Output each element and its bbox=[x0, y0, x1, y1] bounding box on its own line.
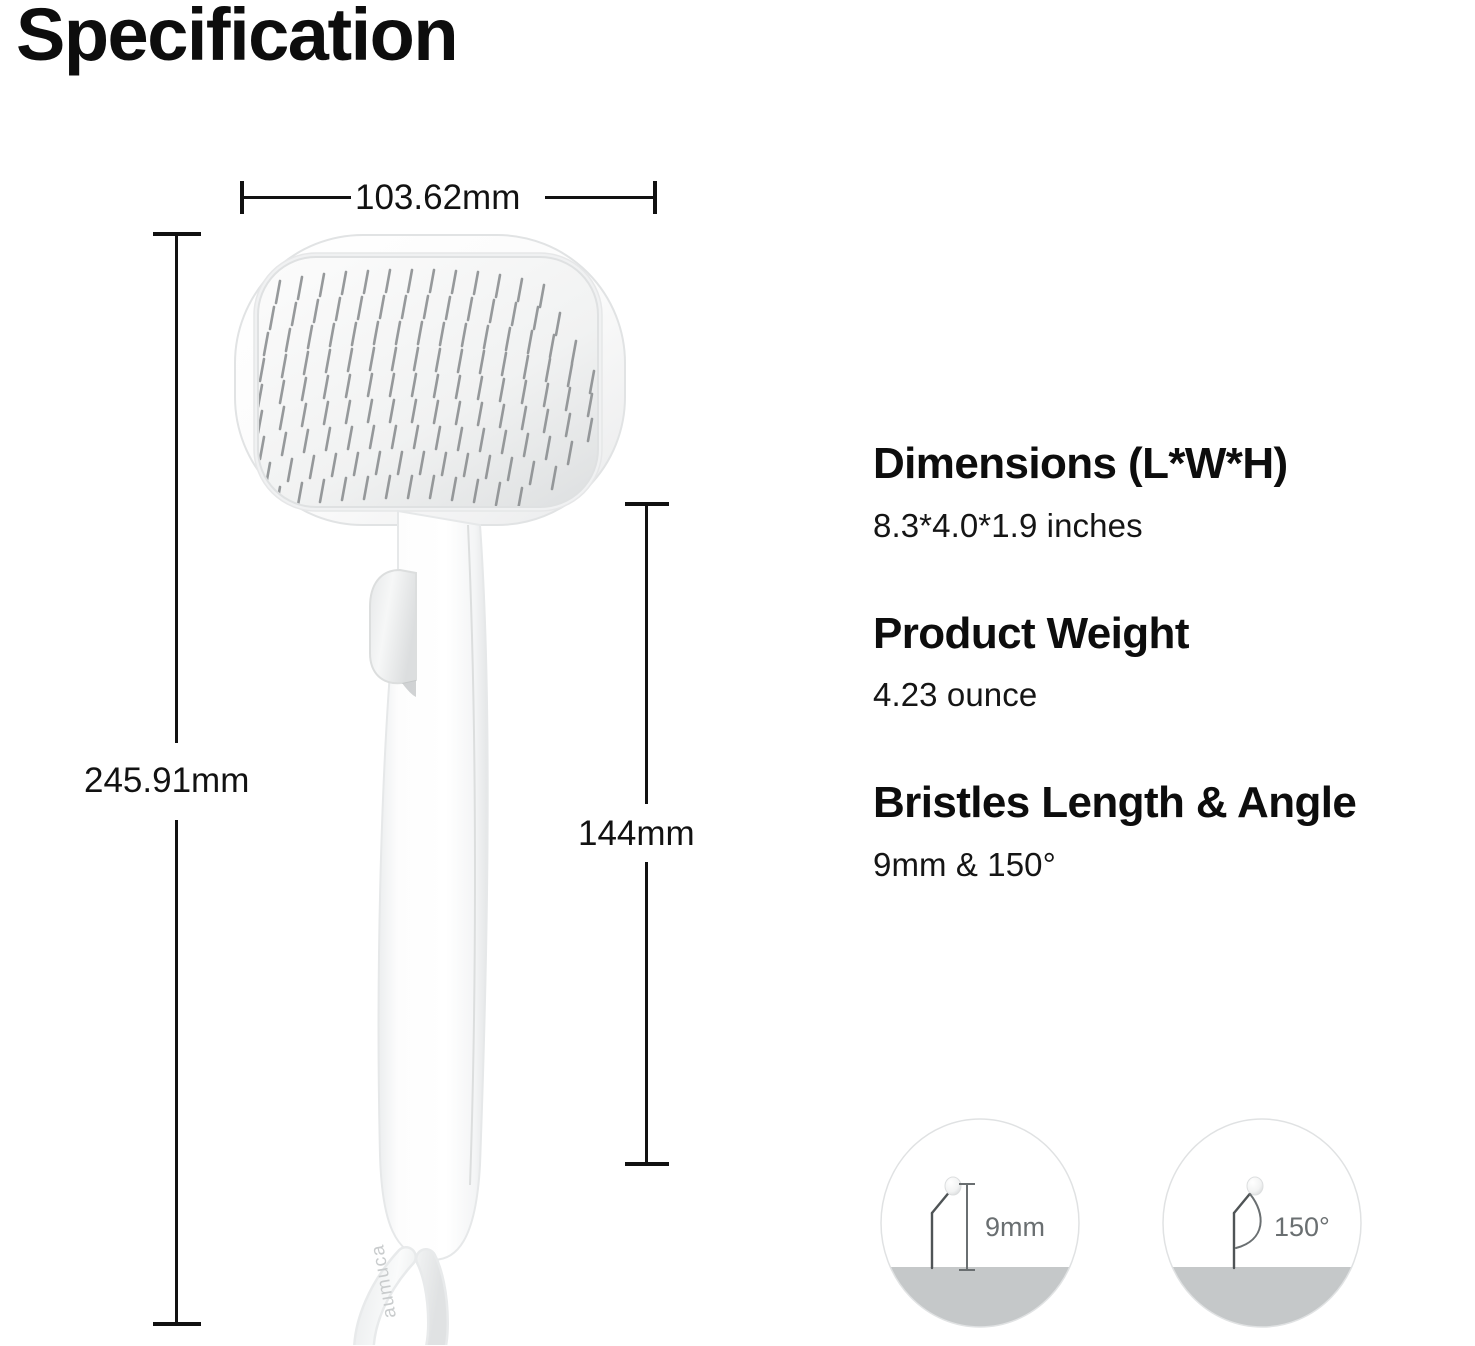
height-dimension-label: 245.91mm bbox=[84, 761, 249, 801]
bristle-length-label: 9mm bbox=[985, 1212, 1045, 1242]
width-dimension-label: 103.62mm bbox=[355, 178, 520, 218]
bristle-tip-icon bbox=[1247, 1177, 1263, 1195]
spec-heading-weight: Product Weight bbox=[873, 608, 1475, 660]
spec-value-weight: 4.23 ounce bbox=[873, 675, 1475, 715]
spec-value-dimensions: 8.3*4.0*1.9 inches bbox=[873, 506, 1475, 546]
height-dimension-line-bottom bbox=[175, 820, 178, 1324]
product-illustration: aumuca bbox=[230, 225, 670, 1345]
handle-dimension-line-top bbox=[645, 504, 648, 804]
bristle-angle-label: 150° bbox=[1274, 1212, 1330, 1242]
release-button bbox=[370, 570, 416, 697]
spec-value-bristles: 9mm & 150° bbox=[873, 845, 1475, 885]
bristle-pad bbox=[258, 257, 598, 510]
width-dimension-line-left bbox=[240, 196, 351, 199]
specification-page: Specification bbox=[0, 0, 1475, 1346]
handle-dimension-label: 144mm bbox=[578, 814, 695, 854]
width-dimension-line-right bbox=[545, 196, 657, 199]
page-title: Specification bbox=[16, 0, 457, 75]
hanging-loop: aumuca bbox=[364, 1242, 438, 1345]
spec-heading-bristles: Bristles Length & Angle bbox=[873, 777, 1475, 829]
height-dimension-line-top bbox=[175, 234, 178, 743]
bristle-angle-diagram: 150° bbox=[1162, 1118, 1362, 1328]
bristle-length-diagram: 9mm bbox=[880, 1118, 1080, 1328]
spec-heading-dimensions: Dimensions (L*W*H) bbox=[873, 438, 1475, 490]
spec-list: Dimensions (L*W*H) 8.3*4.0*1.9 inches Pr… bbox=[873, 438, 1475, 885]
spec-block-dimensions: Dimensions (L*W*H) 8.3*4.0*1.9 inches bbox=[873, 438, 1475, 546]
spec-block-bristles: Bristles Length & Angle 9mm & 150° bbox=[873, 777, 1475, 885]
bristle-tip-icon bbox=[945, 1177, 961, 1195]
bristle-diagrams: 9mm bbox=[880, 1118, 1362, 1328]
handle-dimension-line-bottom bbox=[645, 862, 648, 1164]
spec-block-weight: Product Weight 4.23 ounce bbox=[873, 608, 1475, 716]
